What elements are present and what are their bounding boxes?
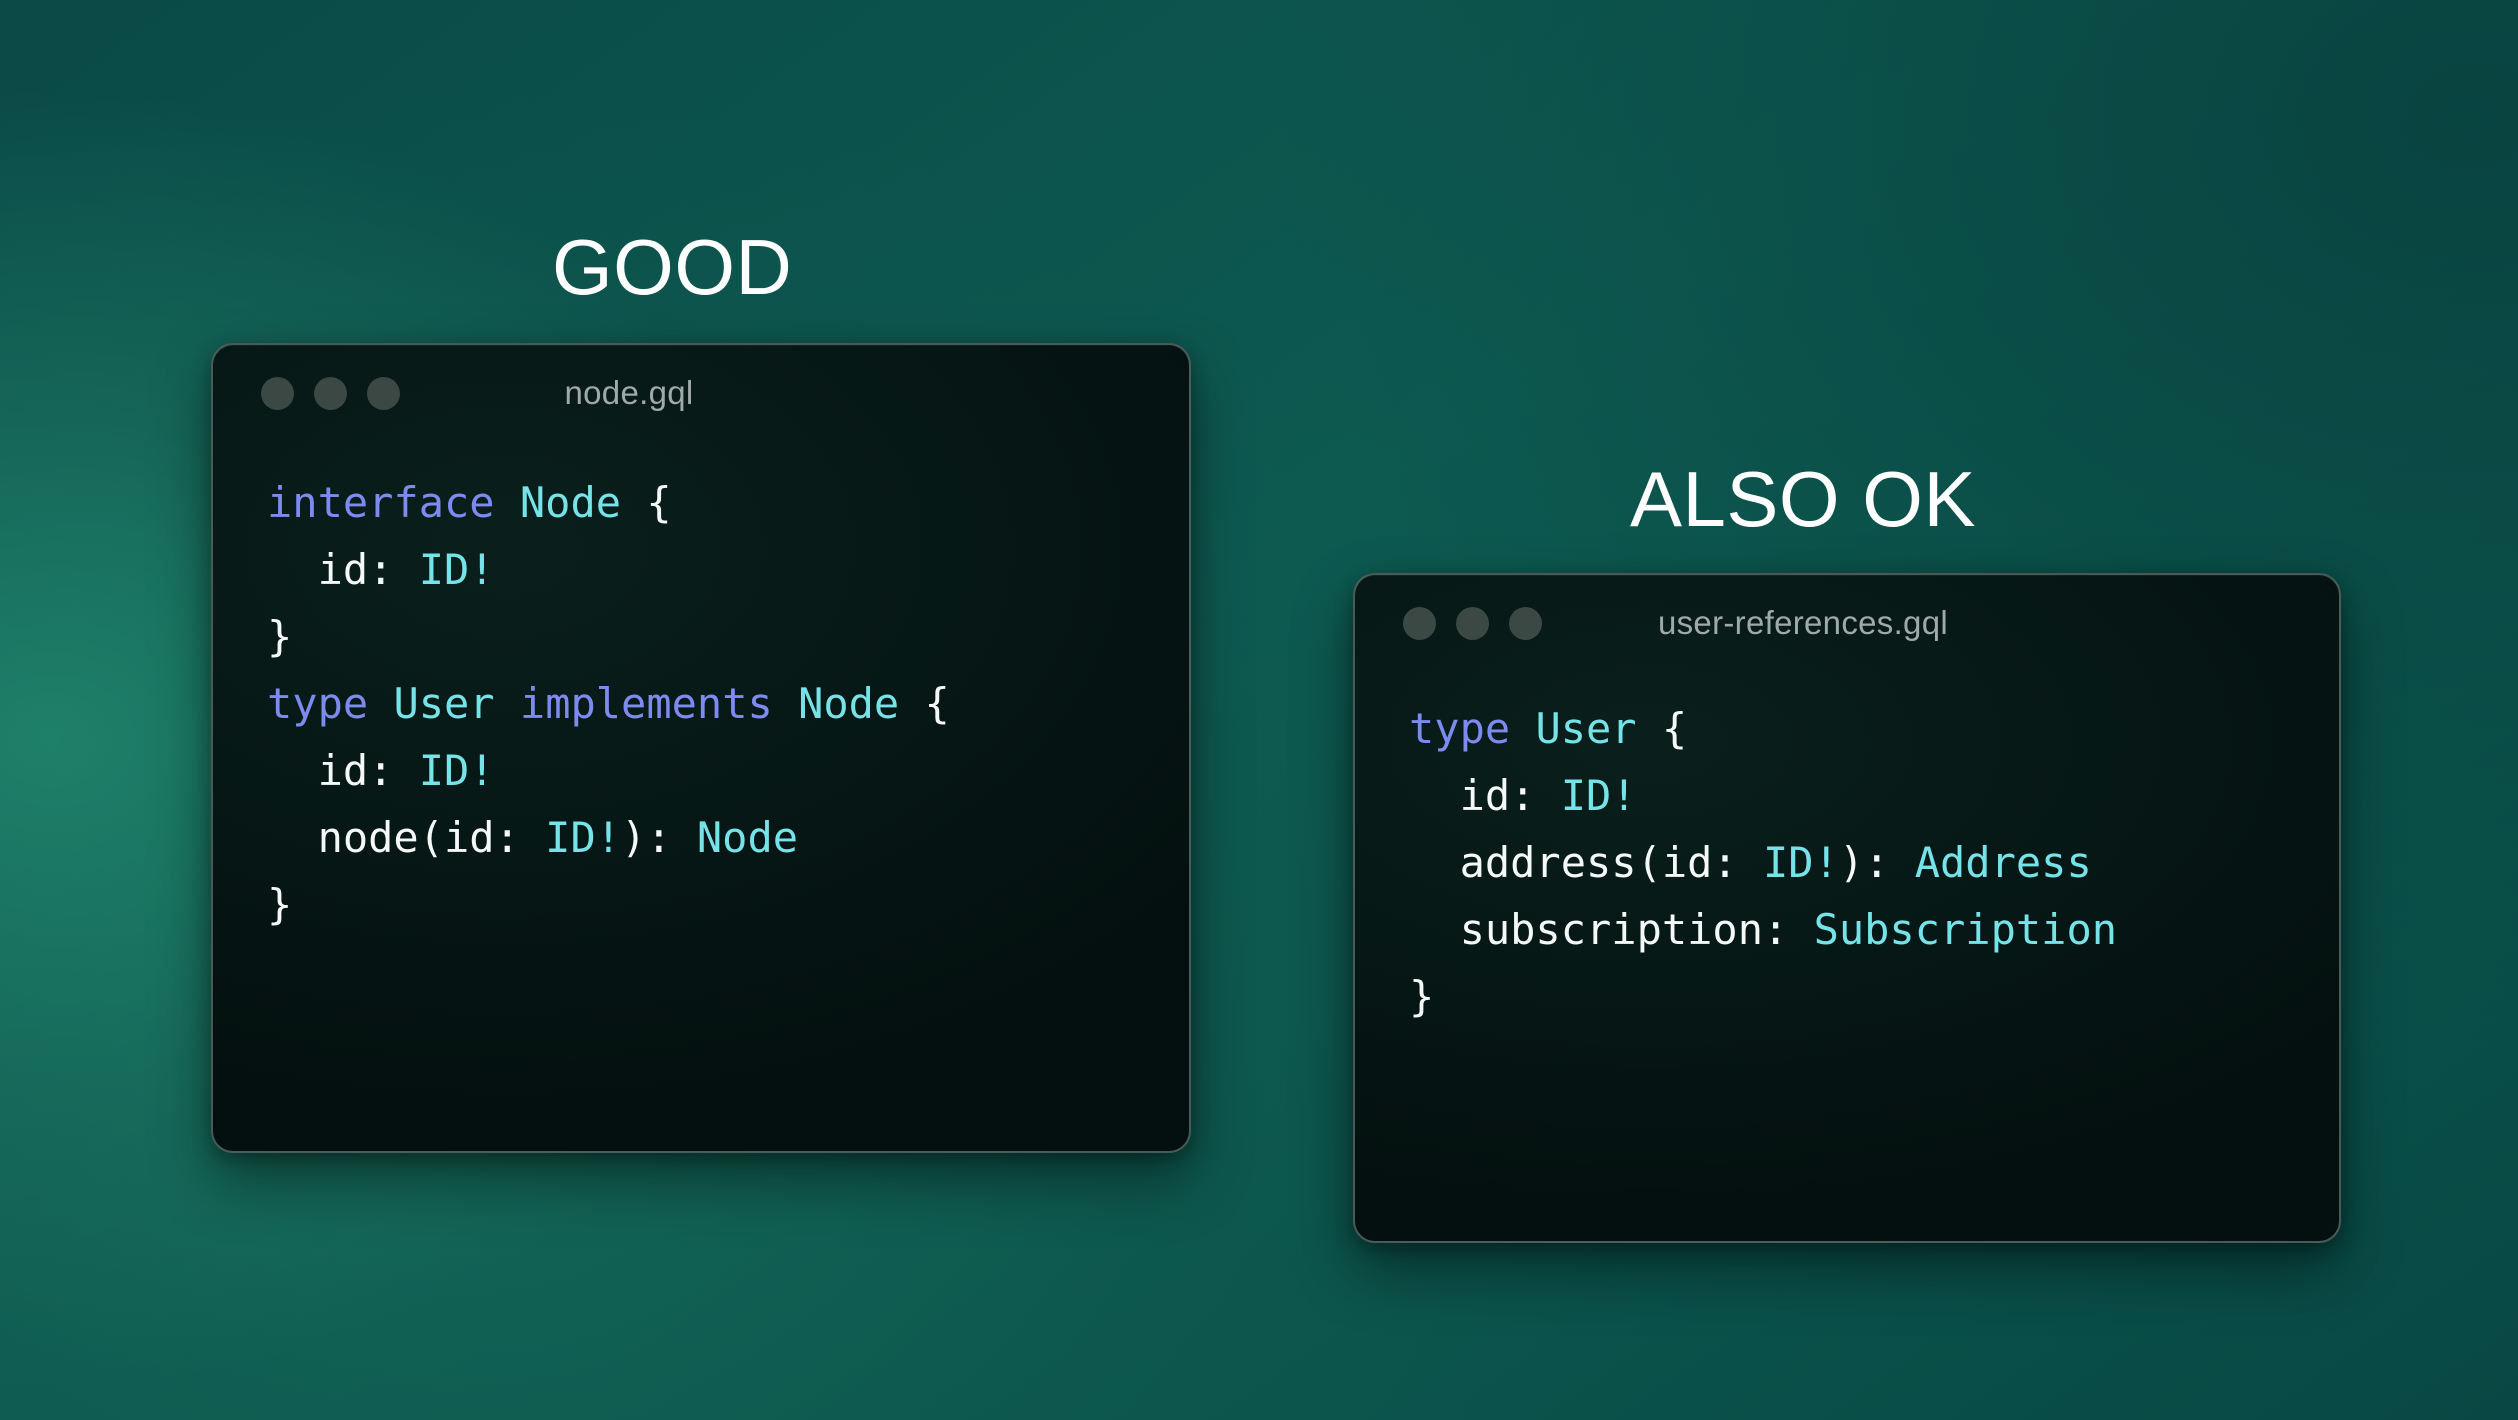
- code-token: {: [1637, 704, 1688, 753]
- code-line: }: [267, 871, 1189, 938]
- code-token: {: [899, 679, 950, 728]
- code-token: [495, 478, 520, 527]
- window-controls: [261, 377, 400, 410]
- code-token: address(id:: [1409, 838, 1763, 887]
- heading-also-ok: ALSO OK: [1630, 460, 1976, 538]
- code-token: }: [267, 880, 292, 929]
- window-titlebar: user-references.gql: [1355, 575, 2339, 671]
- code-token: ID!: [545, 813, 621, 862]
- code-token: }: [1409, 972, 1434, 1021]
- code-content-good: interface Node { id: ID!}type User imple…: [213, 441, 1189, 938]
- code-token: Node: [798, 679, 899, 728]
- code-token: ID!: [419, 545, 495, 594]
- code-token: ):: [621, 813, 697, 862]
- code-token: subscription:: [1409, 905, 1814, 954]
- code-line: id: ID!: [1409, 762, 2339, 829]
- code-line: address(id: ID!): Address: [1409, 829, 2339, 896]
- code-token: ):: [1839, 838, 1915, 887]
- code-token: [773, 679, 798, 728]
- window-dot-close-icon[interactable]: [261, 377, 294, 410]
- window-dot-minimize-icon[interactable]: [314, 377, 347, 410]
- code-line: node(id: ID!): Node: [267, 804, 1189, 871]
- code-line: type User implements Node {: [267, 670, 1189, 737]
- code-token: ID!: [1561, 771, 1637, 820]
- code-token: node(id:: [267, 813, 545, 862]
- window-dot-minimize-icon[interactable]: [1456, 607, 1489, 640]
- code-token: [1510, 704, 1535, 753]
- window-controls: [1403, 607, 1542, 640]
- code-token: id:: [1409, 771, 1561, 820]
- code-token: ID!: [1763, 838, 1839, 887]
- code-line: id: ID!: [267, 536, 1189, 603]
- code-content-also-ok: type User { id: ID! address(id: ID!): Ad…: [1355, 671, 2339, 1030]
- code-token: Node: [520, 478, 621, 527]
- window-dot-maximize-icon[interactable]: [1509, 607, 1542, 640]
- comparison-stage: GOOD node.gql interface Node { id: ID!}t…: [0, 0, 2518, 1420]
- code-line: id: ID!: [267, 737, 1189, 804]
- window-titlebar: node.gql: [213, 345, 1189, 441]
- window-dot-close-icon[interactable]: [1403, 607, 1436, 640]
- code-token: {: [621, 478, 672, 527]
- code-token: type: [267, 679, 368, 728]
- code-token: User: [1535, 704, 1636, 753]
- code-token: id:: [267, 746, 419, 795]
- heading-good: GOOD: [552, 228, 792, 306]
- code-token: interface: [267, 478, 495, 527]
- code-token: implements: [520, 679, 773, 728]
- code-line: }: [267, 603, 1189, 670]
- code-token: User: [393, 679, 494, 728]
- code-token: }: [267, 612, 292, 661]
- code-token: Address: [1915, 838, 2092, 887]
- code-token: [495, 679, 520, 728]
- code-token: Node: [697, 813, 798, 862]
- code-line: interface Node {: [267, 469, 1189, 536]
- code-token: Subscription: [1814, 905, 2117, 954]
- code-token: ID!: [419, 746, 495, 795]
- window-dot-maximize-icon[interactable]: [367, 377, 400, 410]
- code-window-also-ok: user-references.gql type User { id: ID! …: [1353, 573, 2341, 1243]
- code-token: [368, 679, 393, 728]
- code-line: subscription: Subscription: [1409, 896, 2339, 963]
- code-window-good: node.gql interface Node { id: ID!}type U…: [211, 343, 1191, 1153]
- code-token: id:: [267, 545, 419, 594]
- code-line: type User {: [1409, 695, 2339, 762]
- code-line: }: [1409, 963, 2339, 1030]
- code-token: type: [1409, 704, 1510, 753]
